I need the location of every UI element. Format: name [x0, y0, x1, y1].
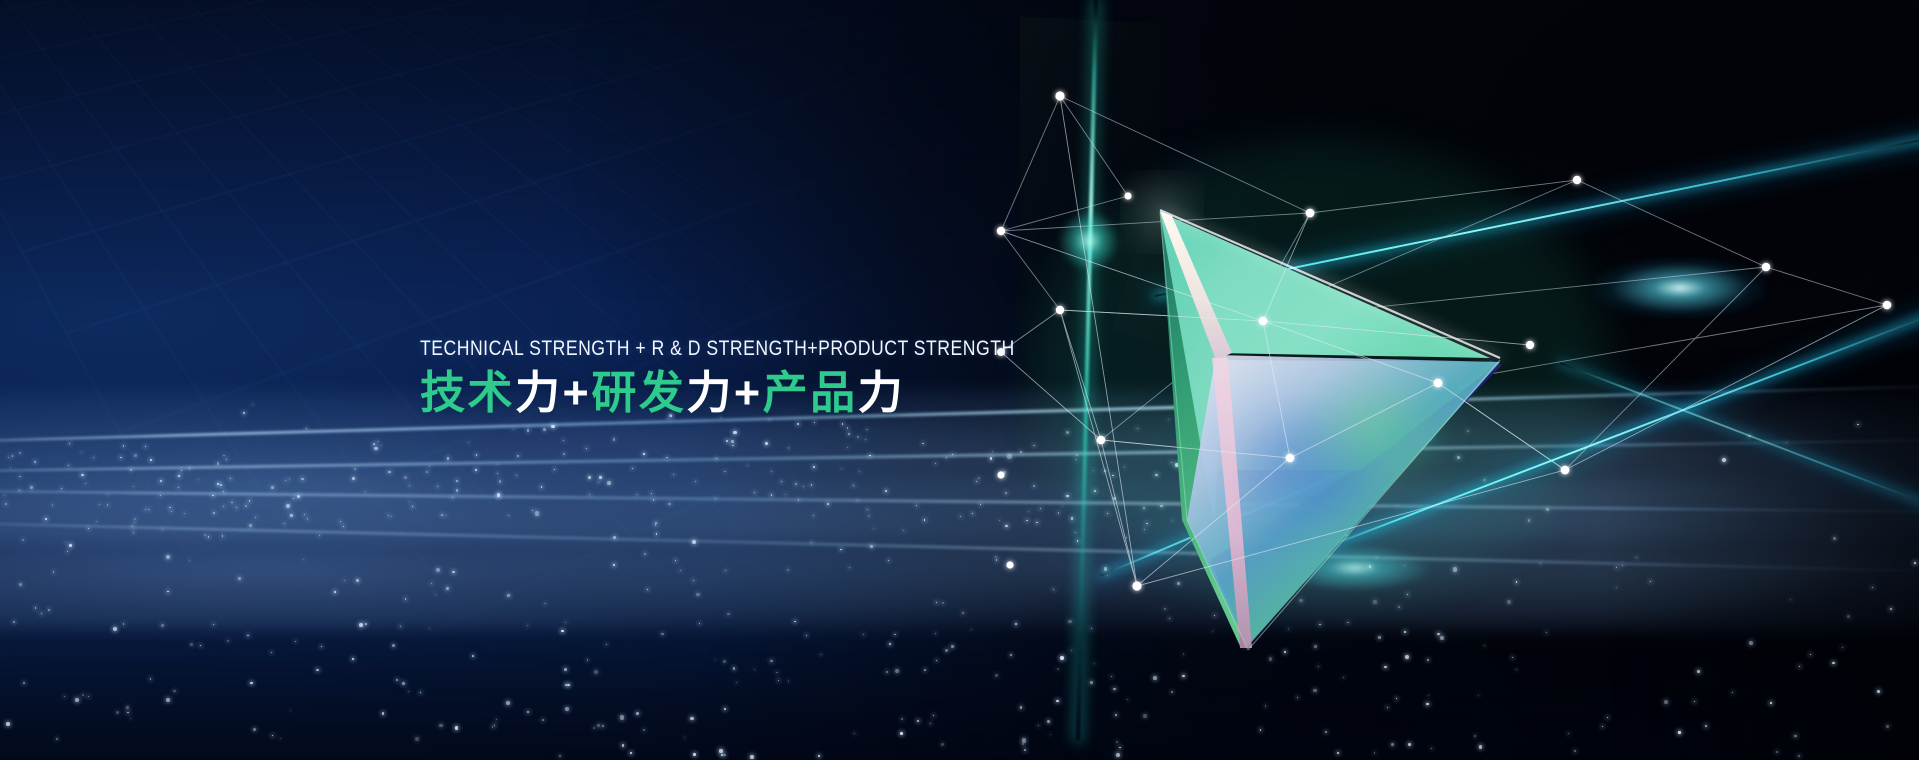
network-node: [1286, 454, 1295, 463]
network-node: [1306, 209, 1315, 218]
network-node: [1055, 91, 1064, 100]
network-node: [1259, 317, 1268, 326]
headline-cn-seg-4: 研发: [591, 367, 686, 418]
network-node: [1561, 466, 1570, 475]
headline-cn-seg-1: 技术: [420, 367, 515, 418]
headline-cn-seg-6: +: [734, 367, 763, 418]
network-node: [1132, 581, 1141, 590]
network-node: [1883, 301, 1892, 310]
prism-blob-green: [1305, 383, 1445, 487]
network-node: [1526, 341, 1534, 349]
headline-cn-seg-5: 力: [686, 367, 734, 418]
network-node: [1056, 306, 1064, 314]
network-node: [1434, 379, 1443, 388]
network-node: [1762, 263, 1771, 272]
network-node: [997, 471, 1004, 478]
hero-banner: TECHNICAL STRENGTH + R & D STRENGTH+PROD…: [0, 0, 1919, 760]
network-node: [997, 227, 1005, 235]
headline-english: TECHNICAL STRENGTH + R & D STRENGTH+PROD…: [420, 336, 1015, 361]
headline-cn-seg-2: 力: [515, 367, 563, 418]
network-node: [1573, 176, 1581, 184]
headline-cn-seg-3: +: [563, 367, 592, 418]
headline-block: TECHNICAL STRENGTH + R & D STRENGTH+PROD…: [420, 336, 1145, 419]
network-node: [1124, 192, 1131, 199]
prism-apex-glow: [1146, 196, 1178, 228]
headline-cn-seg-8: 力: [858, 367, 906, 418]
network-node: [1097, 436, 1106, 445]
network-node: [1006, 561, 1013, 568]
headline-chinese: 技术力+研发力+产品力: [420, 367, 1145, 419]
headline-cn-seg-7: 产品: [763, 367, 858, 418]
